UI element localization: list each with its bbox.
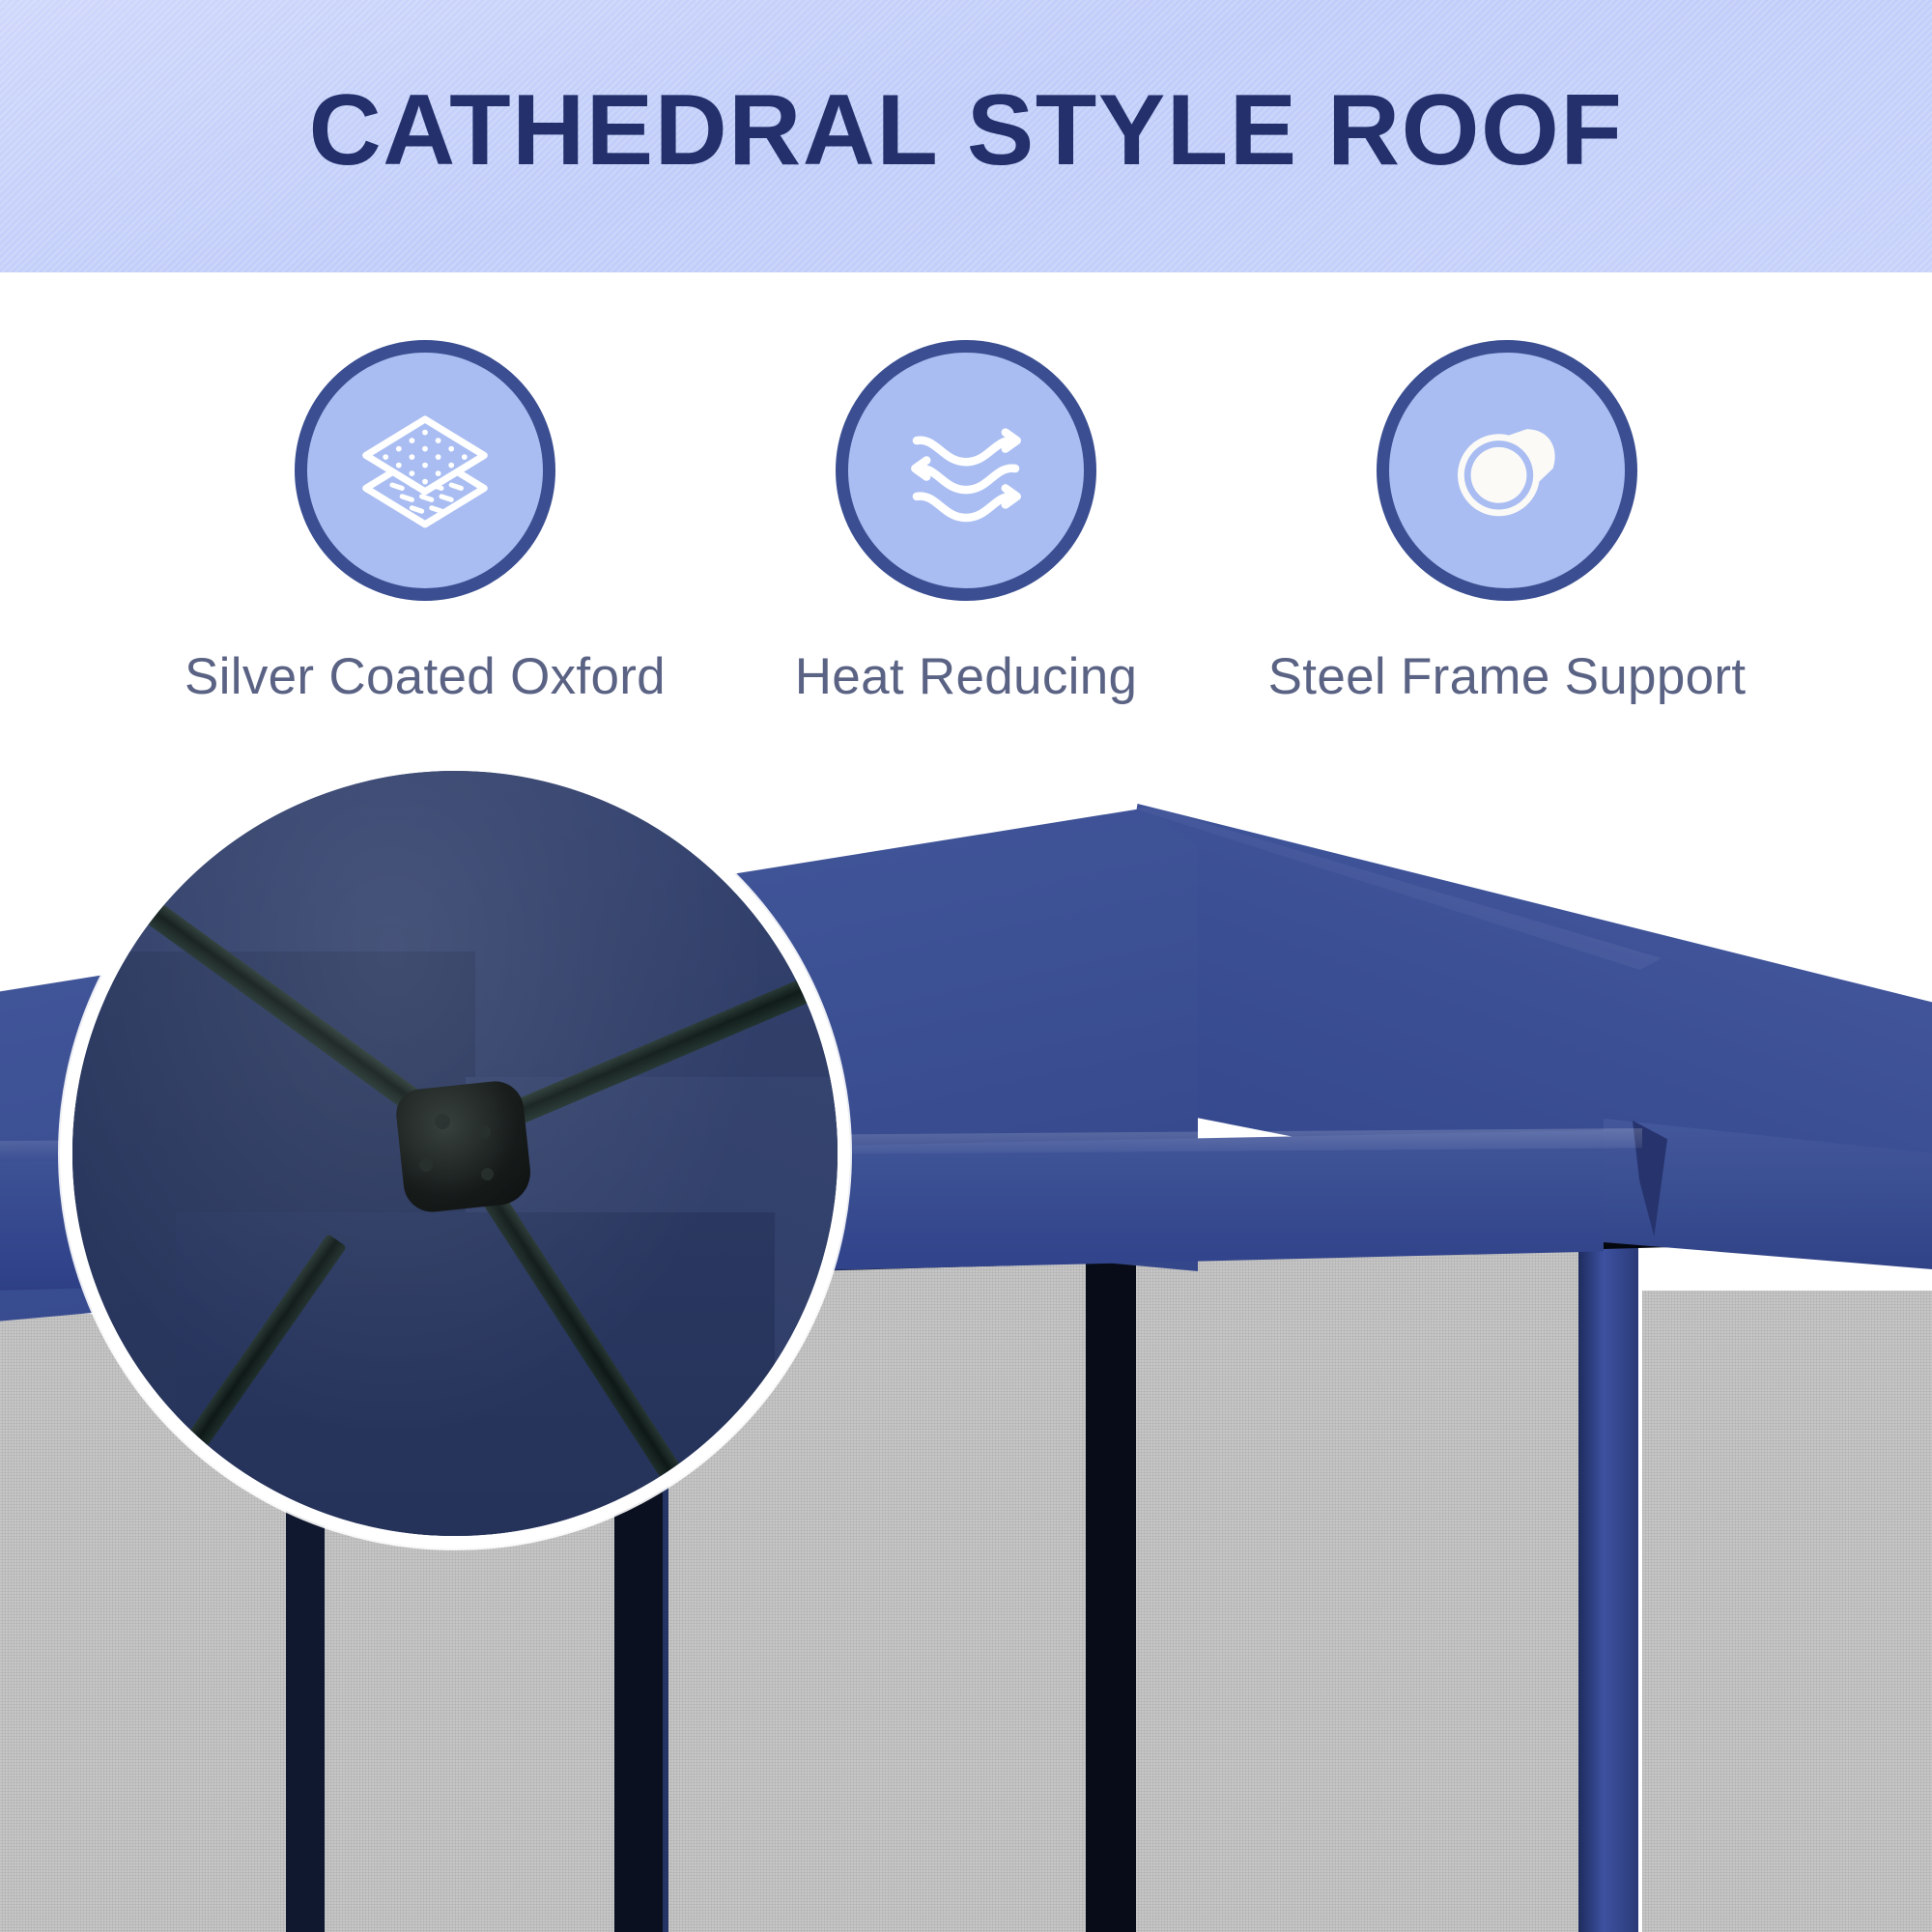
feature-label: Heat Reducing: [795, 647, 1138, 706]
mesh-wall-panel: [1642, 1291, 1932, 1932]
mesh-wall-panel: [1132, 1248, 1586, 1932]
feature-icon-badge: [1377, 340, 1637, 601]
feature-label: Silver Coated Oxford: [185, 647, 666, 706]
feature-highlights-row: Silver Coated Oxford Heat Reducing: [0, 272, 1932, 707]
corner-leg-post: [1578, 1217, 1638, 1932]
steel-tube-icon: [1425, 386, 1589, 555]
feature-label: Steel Frame Support: [1268, 647, 1747, 706]
feature-item-heat-reducing: Heat Reducing: [696, 340, 1236, 706]
feature-item-silver-coated-oxford: Silver Coated Oxford: [155, 340, 696, 706]
page-title: CATHEDRAL STYLE ROOF: [309, 73, 1624, 188]
header-banner: CATHEDRAL STYLE ROOF: [0, 0, 1932, 272]
feature-icon-badge: [295, 340, 555, 601]
roof-frame-detail-magnifier: [60, 758, 850, 1548]
fabric-sheen: [60, 758, 850, 1548]
airflow-waves-icon: [884, 386, 1048, 555]
feature-icon-badge: [836, 340, 1096, 601]
magnifier-content: [60, 758, 850, 1548]
layered-fabric-icon: [343, 386, 507, 555]
product-photo: [0, 734, 1932, 1932]
frame-post: [1086, 1217, 1136, 1932]
feature-item-steel-frame-support: Steel Frame Support: [1236, 340, 1777, 706]
